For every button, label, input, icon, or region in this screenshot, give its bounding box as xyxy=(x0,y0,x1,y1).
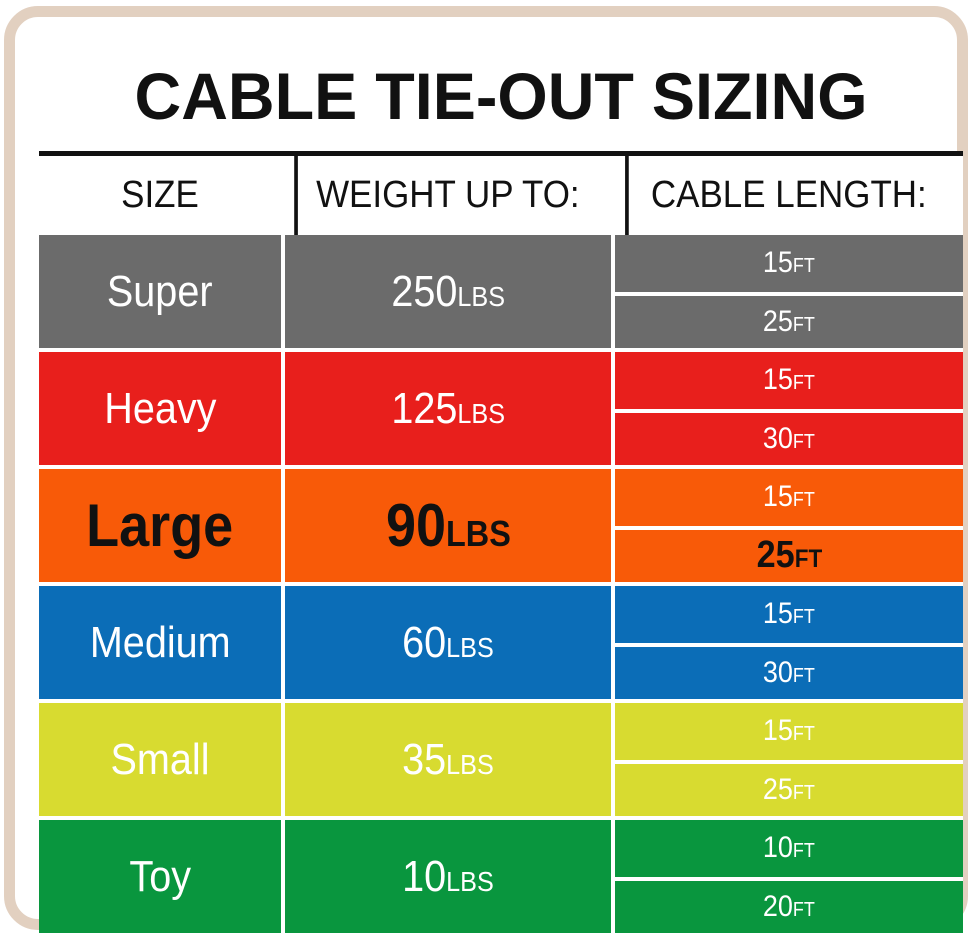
weight-value-group: 125LBS xyxy=(391,384,505,434)
length-unit: FT xyxy=(793,255,815,278)
cell-size: Large xyxy=(39,469,281,582)
cell-size: Heavy xyxy=(39,352,281,465)
length-value-group: 15FT xyxy=(763,597,815,631)
weight-value-group: 60LBS xyxy=(402,618,494,668)
weight-value: 35 xyxy=(402,735,446,785)
table-row: Large90LBS15FT25FT xyxy=(39,465,963,582)
length-option-top: 15FT xyxy=(615,235,963,292)
length-option-bottom: 30FT xyxy=(615,409,963,466)
size-label: Toy xyxy=(129,852,191,902)
length-value-group: 15FT xyxy=(763,480,815,514)
cell-weight: 90LBS xyxy=(281,469,611,582)
length-value-group: 15FT xyxy=(763,363,815,397)
weight-value-group: 90LBS xyxy=(386,491,511,560)
weight-value: 60 xyxy=(402,618,446,668)
length-value-group: 10FT xyxy=(763,831,815,865)
table-row: Heavy125LBS15FT30FT xyxy=(39,348,963,465)
weight-value-group: 10LBS xyxy=(402,852,494,902)
size-label: Heavy xyxy=(104,384,216,434)
length-value: 30 xyxy=(763,422,793,456)
weight-value-group: 250LBS xyxy=(391,267,505,317)
length-option-top: 15FT xyxy=(615,703,963,760)
weight-unit: LBS xyxy=(446,749,494,781)
length-value: 15 xyxy=(763,480,793,514)
weight-unit: LBS xyxy=(457,398,505,430)
cell-length: 15FT25FT xyxy=(611,469,963,582)
cell-length: 15FT25FT xyxy=(611,235,963,348)
length-unit: FT xyxy=(793,372,815,395)
cell-weight: 125LBS xyxy=(281,352,611,465)
length-option-bottom: 25FT xyxy=(615,526,963,583)
sizing-poster: CABLE TIE-OUT SIZING SIZE WEIGHT UP TO: … xyxy=(0,0,972,936)
length-unit: FT xyxy=(793,489,815,512)
table-row: Medium60LBS15FT30FT xyxy=(39,582,963,699)
cell-weight: 10LBS xyxy=(281,820,611,933)
column-header-size: SIZE xyxy=(49,156,272,235)
table-body: Super250LBS15FT25FTHeavy125LBS15FT30FTLa… xyxy=(39,235,963,933)
length-option-top: 15FT xyxy=(615,469,963,526)
length-value: 15 xyxy=(763,714,793,748)
cell-weight: 35LBS xyxy=(281,703,611,816)
size-label: Super xyxy=(107,267,213,317)
length-option-top: 15FT xyxy=(615,352,963,409)
table-row: Super250LBS15FT25FT xyxy=(39,235,963,348)
size-label: Large xyxy=(86,491,233,560)
poster-frame: CABLE TIE-OUT SIZING SIZE WEIGHT UP TO: … xyxy=(4,6,968,930)
weight-unit: LBS xyxy=(446,513,511,555)
length-value: 15 xyxy=(763,246,793,280)
length-value: 20 xyxy=(763,890,793,924)
cell-length: 15FT30FT xyxy=(611,586,963,699)
sizing-table: SIZE WEIGHT UP TO: CABLE LENGTH: Super25… xyxy=(39,151,963,933)
length-value-group: 15FT xyxy=(763,246,815,280)
length-option-top: 10FT xyxy=(615,820,963,877)
page-title: CABLE TIE-OUT SIZING xyxy=(48,41,954,151)
length-value: 15 xyxy=(763,597,793,631)
length-option-top: 15FT xyxy=(615,586,963,643)
weight-unit: LBS xyxy=(446,632,494,664)
cell-length: 15FT30FT xyxy=(611,352,963,465)
length-value-group: 25FT xyxy=(763,305,815,339)
cell-size: Small xyxy=(39,703,281,816)
length-value: 25 xyxy=(763,305,793,339)
cell-size: Toy xyxy=(39,820,281,933)
cell-weight: 250LBS xyxy=(281,235,611,348)
cell-length: 10FT20FT xyxy=(611,820,963,933)
length-unit: FT xyxy=(794,545,821,574)
length-value-group: 25FT xyxy=(763,773,815,807)
length-value: 25 xyxy=(763,773,793,807)
length-unit: FT xyxy=(793,431,815,454)
length-unit: FT xyxy=(793,606,815,629)
length-option-bottom: 30FT xyxy=(615,643,963,700)
weight-value: 125 xyxy=(391,384,457,434)
weight-value: 250 xyxy=(391,267,457,317)
weight-value-group: 35LBS xyxy=(402,735,494,785)
size-label: Small xyxy=(110,735,209,785)
length-value-group: 20FT xyxy=(763,890,815,924)
length-unit: FT xyxy=(793,899,815,922)
length-value: 10 xyxy=(763,831,793,865)
length-unit: FT xyxy=(793,723,815,746)
length-value: 30 xyxy=(763,656,793,690)
table-row: Small35LBS15FT25FT xyxy=(39,699,963,816)
weight-unit: LBS xyxy=(457,281,505,313)
table-header-row: SIZE WEIGHT UP TO: CABLE LENGTH: xyxy=(39,156,963,235)
length-value: 25 xyxy=(756,534,794,577)
cell-size: Medium xyxy=(39,586,281,699)
length-value-group: 15FT xyxy=(763,714,815,748)
cell-size: Super xyxy=(39,235,281,348)
weight-value: 10 xyxy=(402,852,446,902)
cell-length: 15FT25FT xyxy=(611,703,963,816)
length-option-bottom: 25FT xyxy=(615,760,963,817)
length-unit: FT xyxy=(793,782,815,805)
length-option-bottom: 20FT xyxy=(615,877,963,934)
length-value-group: 30FT xyxy=(763,422,815,456)
column-header-length: CABLE LENGTH: xyxy=(625,156,949,235)
length-value-group: 25FT xyxy=(756,534,822,577)
length-value-group: 30FT xyxy=(763,656,815,690)
weight-value: 90 xyxy=(386,491,446,560)
weight-unit: LBS xyxy=(446,866,494,898)
table-row: Toy10LBS10FT20FT xyxy=(39,816,963,933)
poster-inner: CABLE TIE-OUT SIZING SIZE WEIGHT UP TO: … xyxy=(39,41,963,929)
length-unit: FT xyxy=(793,314,815,337)
size-label: Medium xyxy=(90,618,231,668)
length-value: 15 xyxy=(763,363,793,397)
length-option-bottom: 25FT xyxy=(615,292,963,349)
length-unit: FT xyxy=(793,665,815,688)
length-unit: FT xyxy=(793,840,815,863)
cell-weight: 60LBS xyxy=(281,586,611,699)
column-header-weight: WEIGHT UP TO: xyxy=(294,156,598,235)
